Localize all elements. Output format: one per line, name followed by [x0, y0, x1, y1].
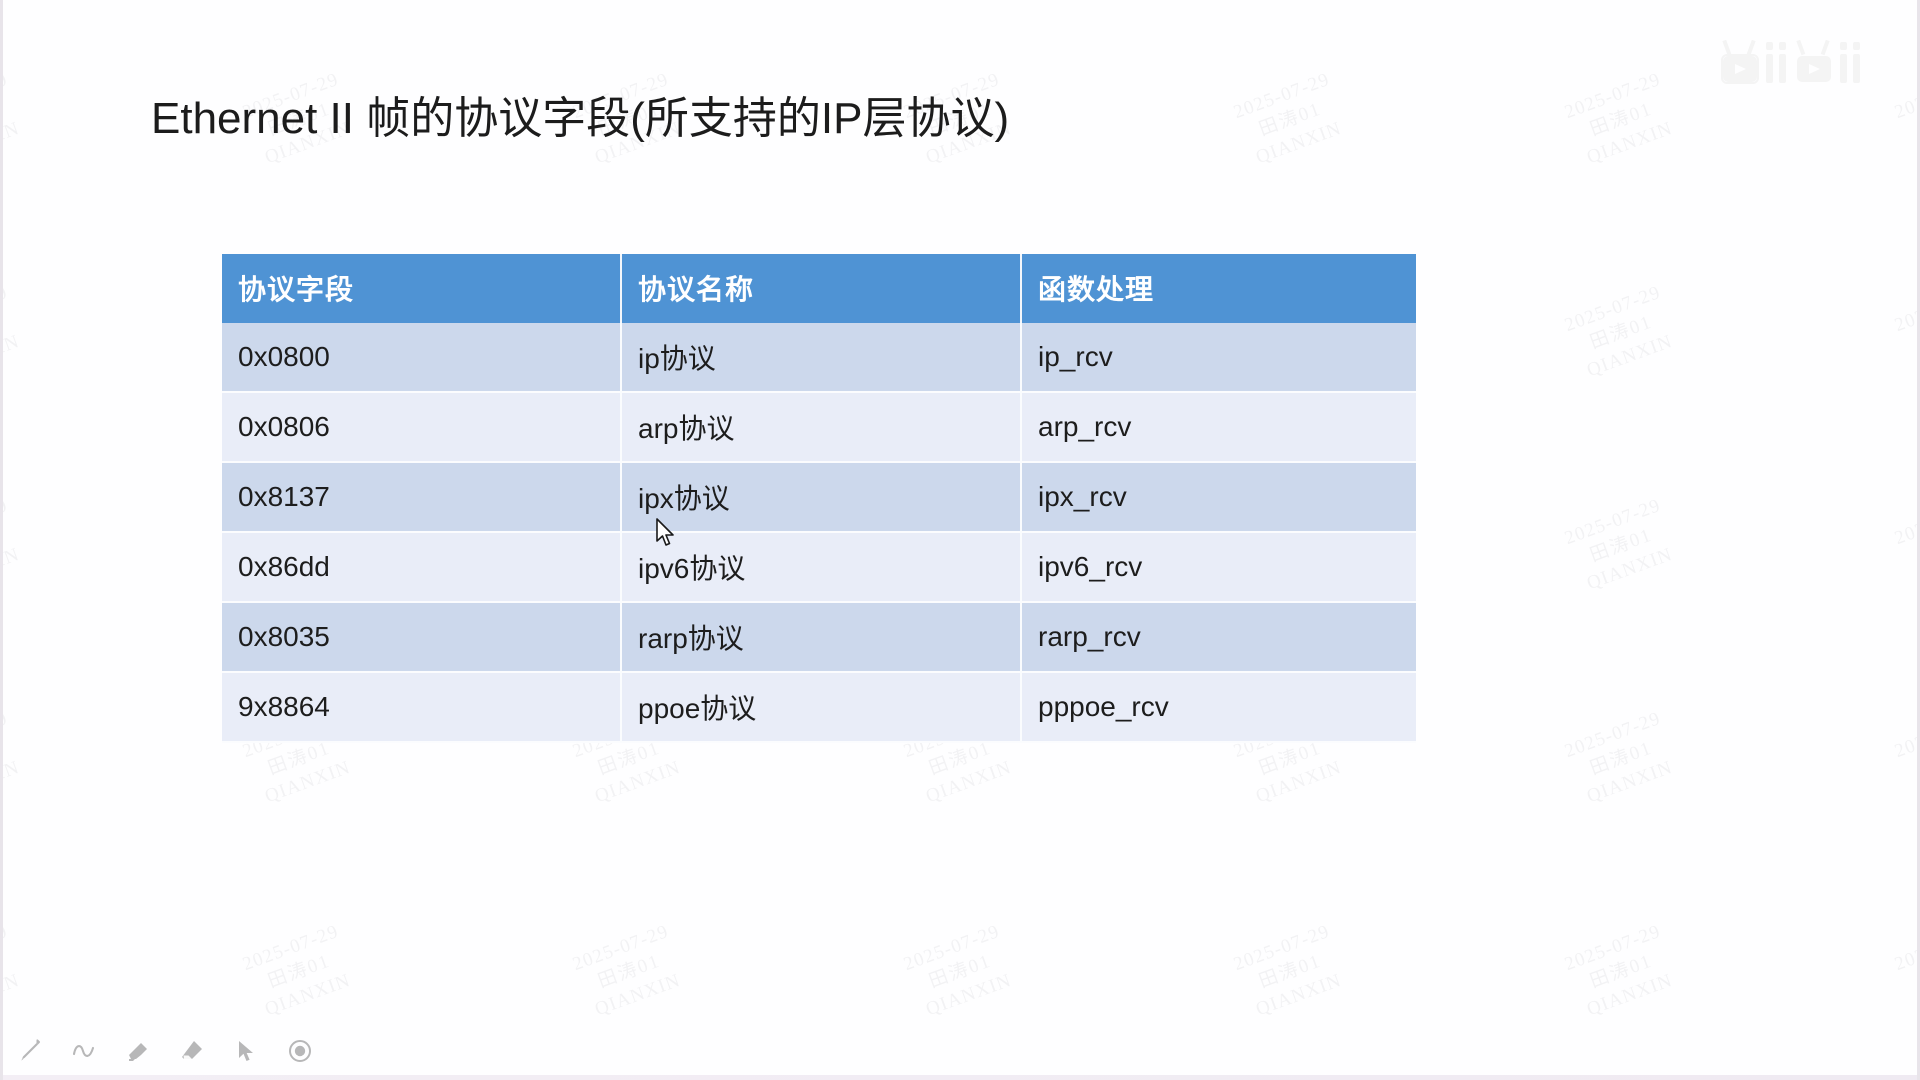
table-row: 0x0800ip协议ip_rcv: [222, 323, 1416, 393]
cell-protocol-field: 0x8035: [222, 603, 622, 673]
watermark-tile: 2025-07-29田涛01QIANXIN: [0, 706, 28, 811]
pencil-icon[interactable]: [13, 1034, 47, 1068]
table-row: 0x8137ipx协议ipx_rcv: [222, 463, 1416, 533]
cell-handler-function: ip_rcv: [1022, 323, 1416, 393]
cell-protocol-name: ipx协议: [622, 463, 1022, 533]
cell-protocol-field: 0x0800: [222, 323, 622, 393]
cell-protocol-name: ppoe协议: [622, 673, 1022, 743]
highlighter-icon[interactable]: [121, 1034, 155, 1068]
cell-protocol-field: 0x0806: [222, 393, 622, 463]
watermark-tile: 2025-07-29田涛01QIANXIN: [1561, 919, 1681, 1024]
eraser-icon[interactable]: [175, 1034, 209, 1068]
cell-handler-function: rarp_rcv: [1022, 603, 1416, 673]
cell-handler-function: arp_rcv: [1022, 393, 1416, 463]
page-title: Ethernet II 帧的协议字段(所支持的IP层协议): [151, 82, 1009, 146]
watermark-tile: 2025-07-29田涛01QIANXIN: [1230, 919, 1350, 1024]
watermark-tile: 2025-07-29田涛01QIANXIN: [239, 919, 359, 1024]
watermark-tile: 2025-07-29田涛01QIANXIN: [1561, 280, 1681, 385]
watermark-tile: 2025-07-29田涛01QIANXIN: [1561, 493, 1681, 598]
watermark-tile: 2025-07-29田涛01QIANXIN: [1892, 280, 1920, 385]
slide-canvas[interactable]: 2025-07-29田涛01QIANXIN2025-07-29田涛01QIANX…: [3, 0, 1917, 1080]
column-header-handler: 函数处理: [1022, 254, 1416, 323]
cell-protocol-field: 0x86dd: [222, 533, 622, 603]
watermark-tile: 2025-07-29田涛01QIANXIN: [1230, 67, 1350, 172]
column-header-name: 协议名称: [622, 254, 1022, 323]
cell-handler-function: ipv6_rcv: [1022, 533, 1416, 603]
watermark-tile: 2025-07-29田涛01QIANXIN: [0, 493, 28, 598]
watermark-tile: 2025-07-29田涛01QIANXIN: [900, 919, 1020, 1024]
watermark-tile: 2025-07-29田涛01QIANXIN: [0, 919, 28, 1024]
table-header-row: 协议字段 协议名称 函数处理: [222, 254, 1416, 323]
cell-handler-function: pppoe_rcv: [1022, 673, 1416, 743]
column-header-field: 协议字段: [222, 254, 622, 323]
watermark-tile: 2025-07-29田涛01QIANXIN: [1561, 706, 1681, 811]
watermark-tile: 2025-07-29田涛01QIANXIN: [0, 280, 28, 385]
pointer-icon[interactable]: [229, 1034, 263, 1068]
cell-protocol-name: ipv6协议: [622, 533, 1022, 603]
table-row: 0x86ddipv6协议ipv6_rcv: [222, 533, 1416, 603]
cell-protocol-name: ip协议: [622, 323, 1022, 393]
squiggle-icon[interactable]: [67, 1034, 101, 1068]
cell-protocol-field: 9x8864: [222, 673, 622, 743]
watermark-tile: 2025-07-29田涛01QIANXIN: [1892, 919, 1920, 1024]
annotation-toolbar[interactable]: [13, 1034, 317, 1068]
bottom-strip: [3, 1075, 1917, 1080]
cell-handler-function: ipx_rcv: [1022, 463, 1416, 533]
cell-protocol-field: 0x8137: [222, 463, 622, 533]
watermark-tile: 2025-07-29田涛01QIANXIN: [1561, 67, 1681, 172]
watermark-tile: 2025-07-29田涛01QIANXIN: [0, 67, 28, 172]
protocol-table: 协议字段 协议名称 函数处理 0x0800ip协议ip_rcv0x0806arp…: [222, 254, 1416, 743]
bilibili-logo-icon: [1719, 40, 1869, 97]
watermark-tile: 2025-07-29田涛01QIANXIN: [1892, 706, 1920, 811]
screen-frame: 2025-07-29田涛01QIANXIN2025-07-29田涛01QIANX…: [0, 0, 1920, 1080]
watermark-tile: 2025-07-29田涛01QIANXIN: [1892, 67, 1920, 172]
watermark-tile: 2025-07-29田涛01QIANXIN: [1892, 493, 1920, 598]
cell-protocol-name: arp协议: [622, 393, 1022, 463]
watermark-tile: 2025-07-29田涛01QIANXIN: [569, 919, 689, 1024]
cell-protocol-name: rarp协议: [622, 603, 1022, 673]
table-row: 0x8035rarp协议rarp_rcv: [222, 603, 1416, 673]
record-icon[interactable]: [283, 1034, 317, 1068]
table-row: 0x0806arp协议arp_rcv: [222, 393, 1416, 463]
table-row: 9x8864ppoe协议pppoe_rcv: [222, 673, 1416, 743]
